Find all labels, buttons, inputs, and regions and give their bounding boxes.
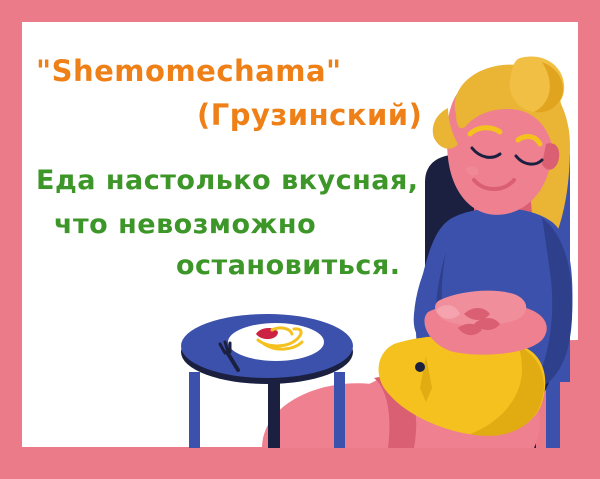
table-leg-left (189, 372, 200, 448)
definition-line-2: что невозможно (54, 209, 316, 240)
phrase-language: (Грузинский) (197, 98, 422, 132)
card-inner-panel: "Shemomechama" (Грузинский) Еда настольк… (22, 22, 578, 457)
table-leg-right (334, 372, 345, 448)
definition-line-3: остановиться. (176, 250, 400, 281)
definition-line-1: Еда настолько вкусная, (36, 165, 419, 196)
phrase-title: "Shemomechama" (36, 54, 342, 88)
meme-card: "Shemomechama" (Грузинский) Еда настольк… (0, 0, 600, 479)
floor-strip (22, 447, 578, 457)
shorts-button (415, 362, 425, 372)
